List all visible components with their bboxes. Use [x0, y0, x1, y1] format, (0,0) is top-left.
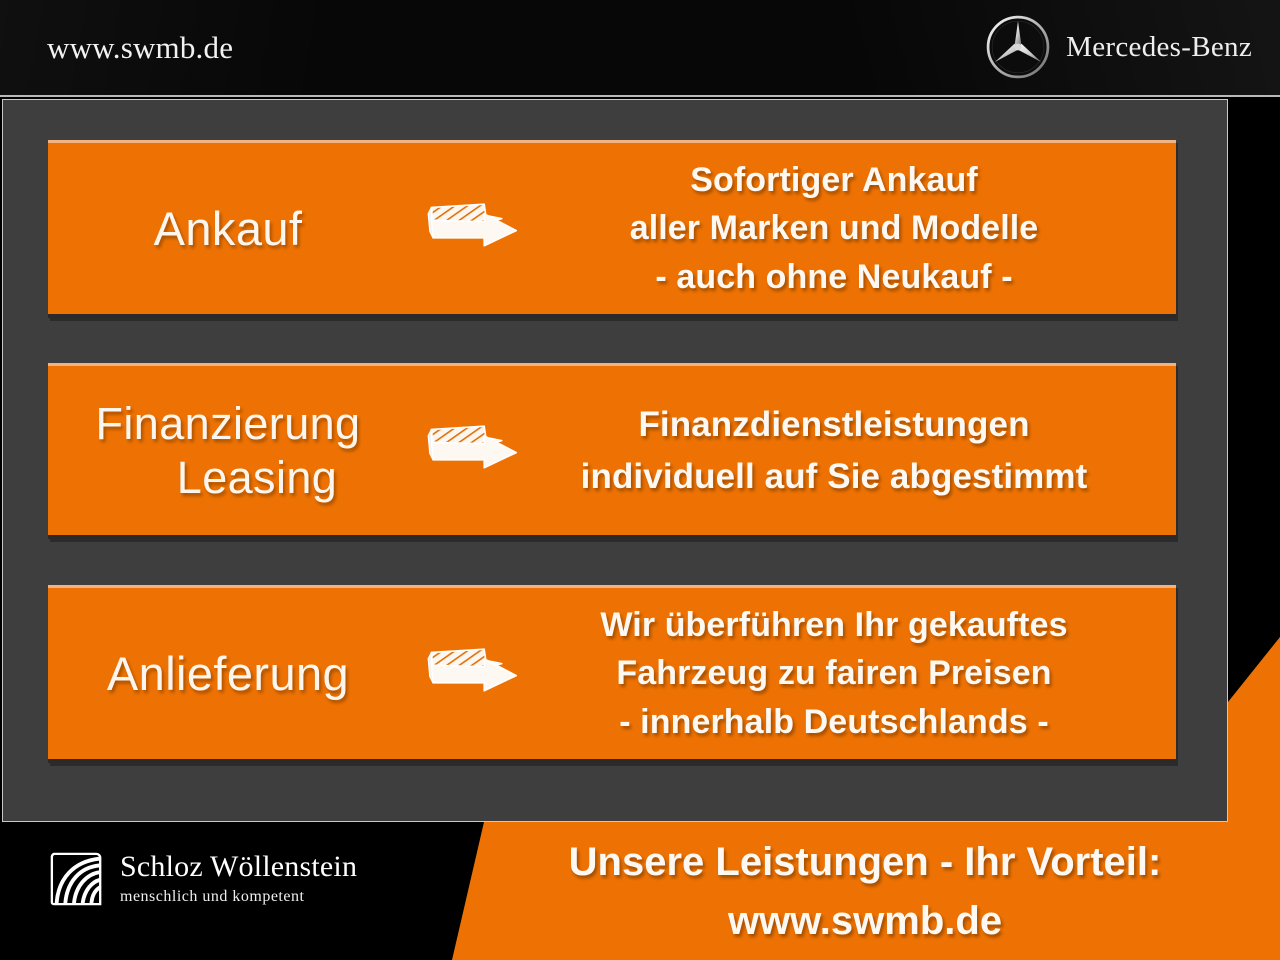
service-desc-line3: - innerhalb Deutschlands - — [538, 698, 1130, 746]
service-title-line1: Ankauf — [154, 202, 303, 255]
service-desc-line2: individuell auf Sie abgestimmt — [538, 451, 1130, 502]
service-desc-line1: Wir überführen Ihr gekauftes — [538, 601, 1130, 649]
footer-banner-line1: Unsere Leistungen - Ihr Vorteil: — [505, 833, 1225, 892]
slide-canvas: www.swmb.de — [0, 0, 1280, 960]
dealer-tagline: menschlich und kompetent — [120, 888, 357, 906]
service-title: Anlieferung — [48, 646, 408, 701]
service-desc-line2: aller Marken und Modelle — [538, 204, 1130, 252]
swooping-lines-logo-icon — [48, 850, 106, 908]
service-description: Wir überführen Ihr gekauftes Fahrzeug zu… — [538, 601, 1176, 746]
service-row[interactable]: Ankauf Sofortiger Ankauf aller Mar — [48, 140, 1176, 318]
mercedes-benz-wordmark: Mercedes-Benz — [1066, 31, 1252, 64]
footer-banner-text: Unsere Leistungen - Ihr Vorteil: www.swm… — [505, 833, 1225, 951]
schloz-woellenstein-logo: Schloz Wöllenstein menschlich und kompet… — [48, 850, 357, 908]
dealer-name: Schloz Wöllenstein — [120, 852, 357, 882]
footer-banner-line2: www.swmb.de — [505, 892, 1225, 951]
service-title: Ankauf — [48, 201, 408, 256]
arrow-cell — [408, 199, 538, 259]
header-bar: www.swmb.de — [0, 0, 1280, 97]
mercedes-star-icon — [984, 13, 1052, 81]
dealer-name-block: Schloz Wöllenstein menschlich und kompet… — [120, 850, 357, 906]
service-desc-line3: - auch ohne Neukauf - — [538, 253, 1130, 301]
service-description: Sofortiger Ankauf aller Marken und Model… — [538, 156, 1176, 301]
hatched-block-arrow-right-icon — [425, 199, 521, 259]
service-desc-line2: Fahrzeug zu fairen Preisen — [538, 649, 1130, 697]
header-website-url: www.swmb.de — [47, 30, 233, 66]
service-row[interactable]: Anlieferung Wir überführen Ihr gekauftes… — [48, 585, 1176, 763]
service-row[interactable]: Finanzierung Leasing Finanzdienstleistun… — [48, 363, 1176, 539]
service-desc-line1: Sofortiger Ankauf — [538, 156, 1130, 204]
service-title-line2: Leasing — [48, 451, 408, 504]
hatched-block-arrow-right-icon — [425, 644, 521, 704]
service-title-line1: Anlieferung — [107, 647, 349, 700]
mercedes-benz-logo: Mercedes-Benz — [984, 13, 1252, 81]
arrow-cell — [408, 421, 538, 481]
service-title-line1: Finanzierung — [96, 398, 361, 449]
service-title: Finanzierung Leasing — [48, 397, 408, 503]
arrow-cell — [408, 644, 538, 704]
hatched-block-arrow-right-icon — [425, 421, 521, 481]
service-desc-line1: Finanzdienstleistungen — [538, 399, 1130, 450]
service-description: Finanzdienstleistungen individuell auf S… — [538, 399, 1176, 501]
